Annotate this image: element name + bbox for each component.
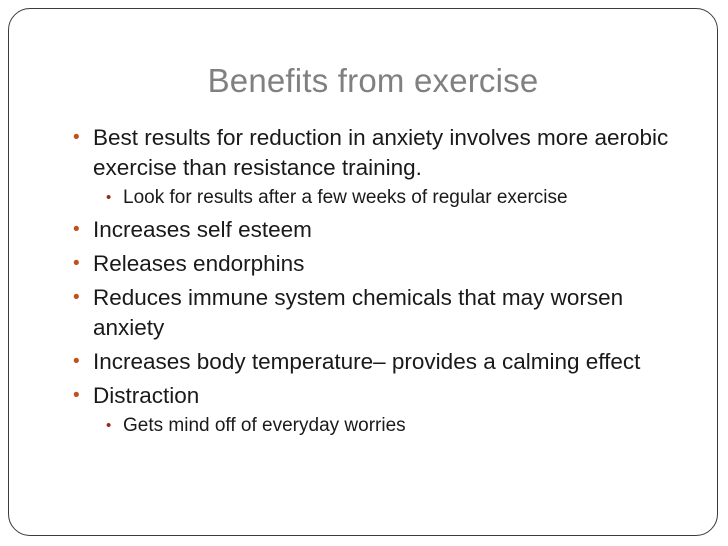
page-title: Benefits from exercise (9, 61, 728, 101)
bullet-icon: • (71, 123, 93, 153)
list-item-label: Reduces immune system chemicals that may… (93, 283, 703, 343)
list-item-label: Distraction (93, 381, 703, 411)
bullet-icon: • (104, 413, 123, 439)
bullet-icon: • (71, 381, 93, 411)
bullet-icon: • (71, 215, 93, 245)
list-item-label: Gets mind off of everyday worries (123, 413, 703, 439)
list-item: • Reduces immune system chemicals that m… (71, 283, 703, 343)
list-item-label: Increases self esteem (93, 215, 703, 245)
list-item: • Increases body temperature– provides a… (71, 347, 703, 377)
bullet-icon: • (71, 249, 93, 279)
list-item-label: Increases body temperature– provides a c… (93, 347, 703, 377)
bullet-icon: • (71, 347, 93, 377)
list-item: • Distraction (71, 381, 703, 411)
list-item: • Look for results after a few weeks of … (71, 185, 703, 211)
slide-body-bullet-list: • Best results for reduction in anxiety … (71, 123, 703, 440)
list-item: • Releases endorphins (71, 249, 703, 279)
list-item: • Increases self esteem (71, 215, 703, 245)
list-item: • Best results for reduction in anxiety … (71, 123, 703, 183)
list-item-label: Releases endorphins (93, 249, 703, 279)
list-item: • Gets mind off of everyday worries (71, 413, 703, 439)
bullet-icon: • (71, 283, 93, 313)
list-item-label: Best results for reduction in anxiety in… (93, 123, 703, 183)
slide-frame: Benefits from exercise • Best results fo… (8, 8, 718, 536)
list-item-label: Look for results after a few weeks of re… (123, 185, 703, 211)
bullet-icon: • (104, 185, 123, 211)
